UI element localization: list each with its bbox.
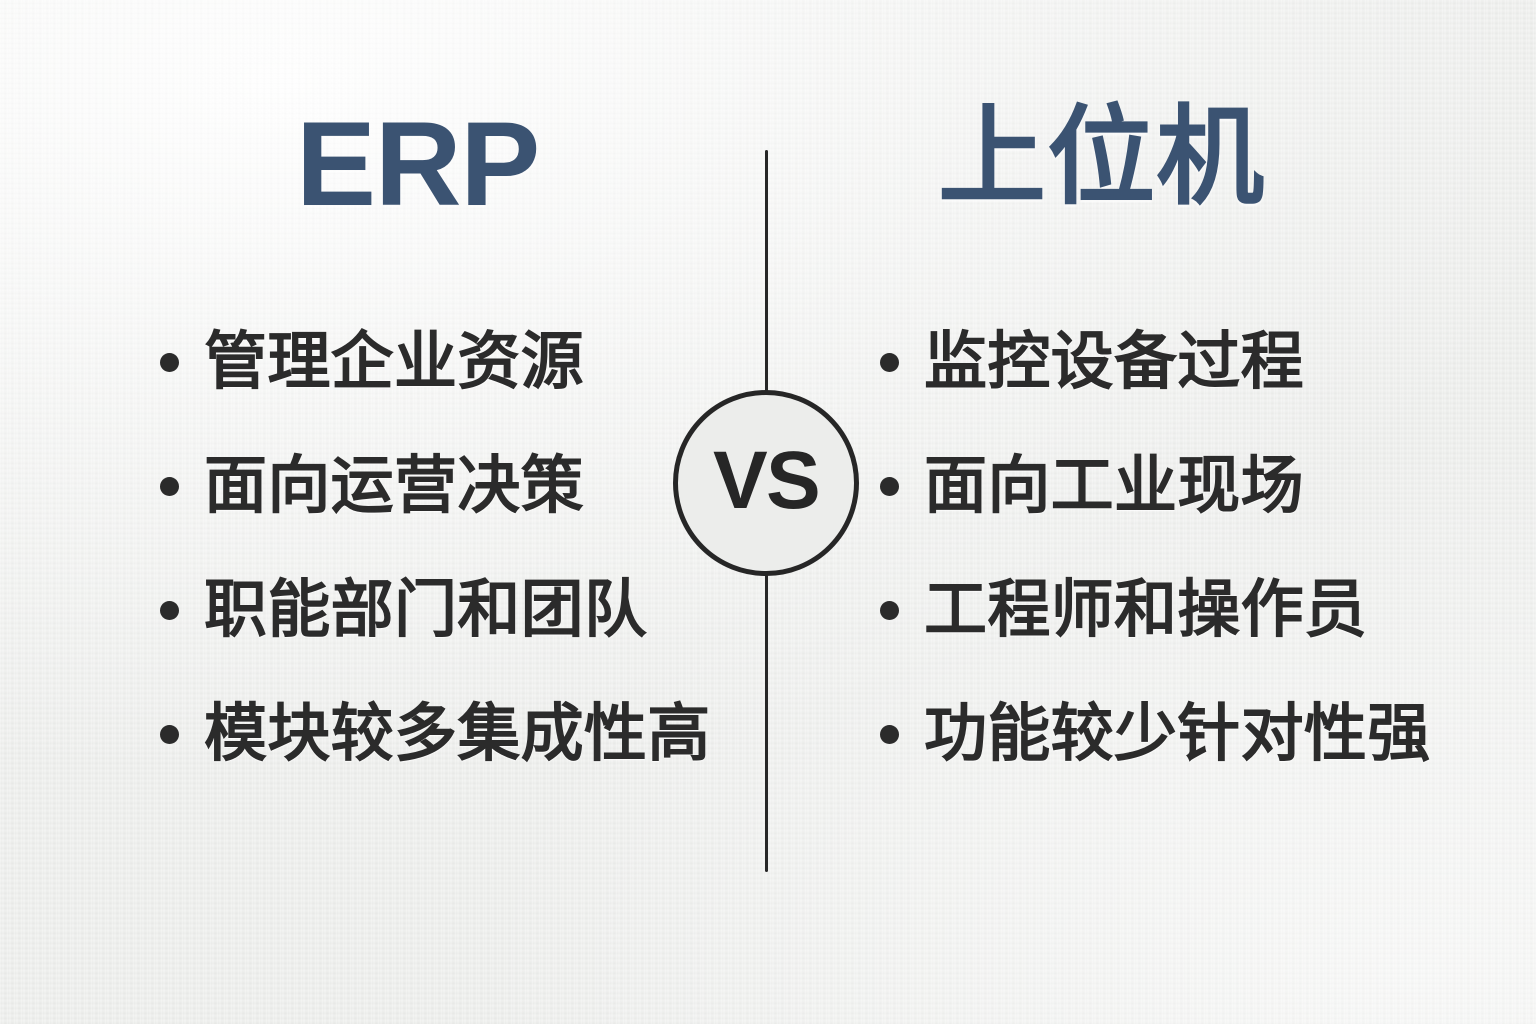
- list-item-label: 管理企业资源: [204, 329, 584, 395]
- list-item: 监控设备过程: [880, 300, 1480, 424]
- list-item: 模块较多集成性高: [160, 672, 760, 796]
- bullet-dot-icon: [880, 353, 899, 372]
- list-item: 管理企业资源: [160, 300, 760, 424]
- bullet-dot-icon: [160, 725, 179, 744]
- bullet-dot-icon: [160, 353, 179, 372]
- bullet-dot-icon: [880, 477, 899, 496]
- list-item: 面向运营决策: [160, 424, 760, 548]
- right-column-title: 上位机: [938, 103, 1265, 211]
- bullet-dot-icon: [880, 725, 899, 744]
- bullet-dot-icon: [160, 477, 179, 496]
- list-item-label: 面向工业现场: [924, 453, 1304, 519]
- list-item-label: 面向运营决策: [204, 453, 584, 519]
- bullet-dot-icon: [160, 601, 179, 620]
- list-item-label: 功能较少针对性强: [924, 701, 1431, 767]
- list-item-label: 工程师和操作员: [924, 577, 1367, 643]
- left-bullet-list: 管理企业资源 面向运营决策 职能部门和团队 模块较多集成性高: [160, 300, 760, 796]
- right-bullet-list: 监控设备过程 面向工业现场 工程师和操作员 功能较少针对性强: [880, 300, 1480, 796]
- list-item: 职能部门和团队: [160, 548, 760, 672]
- left-column-title: ERP: [296, 104, 539, 224]
- list-item: 工程师和操作员: [880, 548, 1480, 672]
- comparison-slide: ERP 上位机 VS 管理企业资源 面向运营决策 职能部门和团队 模块较多集成性…: [0, 0, 1536, 1024]
- bullet-dot-icon: [880, 601, 899, 620]
- list-item-label: 模块较多集成性高: [204, 701, 711, 767]
- list-item-label: 职能部门和团队: [204, 577, 647, 643]
- list-item: 面向工业现场: [880, 424, 1480, 548]
- list-item: 功能较少针对性强: [880, 672, 1480, 796]
- list-item-label: 监控设备过程: [924, 329, 1304, 395]
